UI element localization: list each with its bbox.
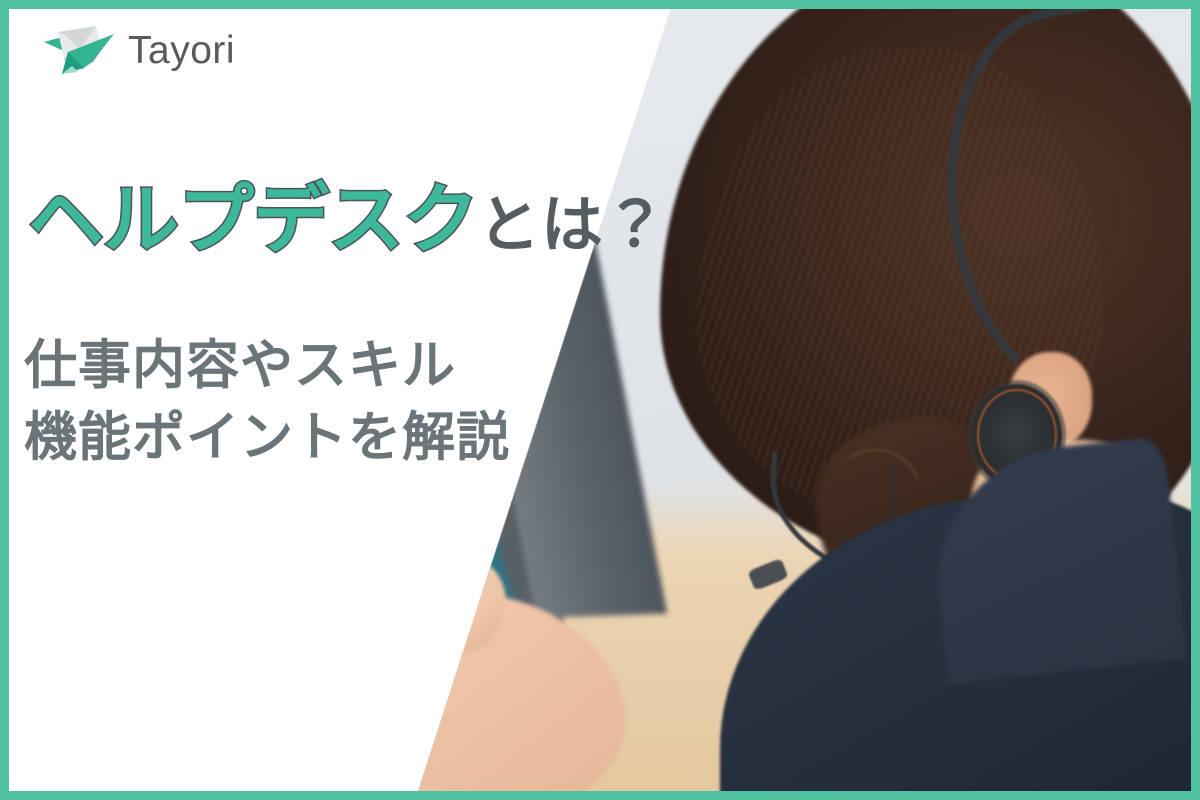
- hero-content: Tayori ヘルプデスクとは？ 仕事内容やスキル 機能ポイントを解説: [0, 0, 680, 800]
- page-subtitle: 仕事内容やスキル 機能ポイントを解説: [24, 330, 684, 474]
- tayori-logo[interactable]: Tayori: [44, 22, 235, 78]
- tayori-paper-plane-envelope-logo-icon: [44, 22, 114, 78]
- page-title-accent: ヘルプデスク: [28, 178, 478, 263]
- page-title: ヘルプデスクとは？: [28, 178, 668, 263]
- page-subtitle-line-2: 機能ポイントを解説: [24, 402, 684, 474]
- tayori-wordmark: Tayori: [128, 31, 235, 70]
- page-title-suffix: とは？: [478, 191, 667, 260]
- hero-banner: Tayori ヘルプデスクとは？ 仕事内容やスキル 機能ポイントを解説: [0, 0, 1200, 800]
- page-subtitle-line-1: 仕事内容やスキル: [24, 330, 684, 402]
